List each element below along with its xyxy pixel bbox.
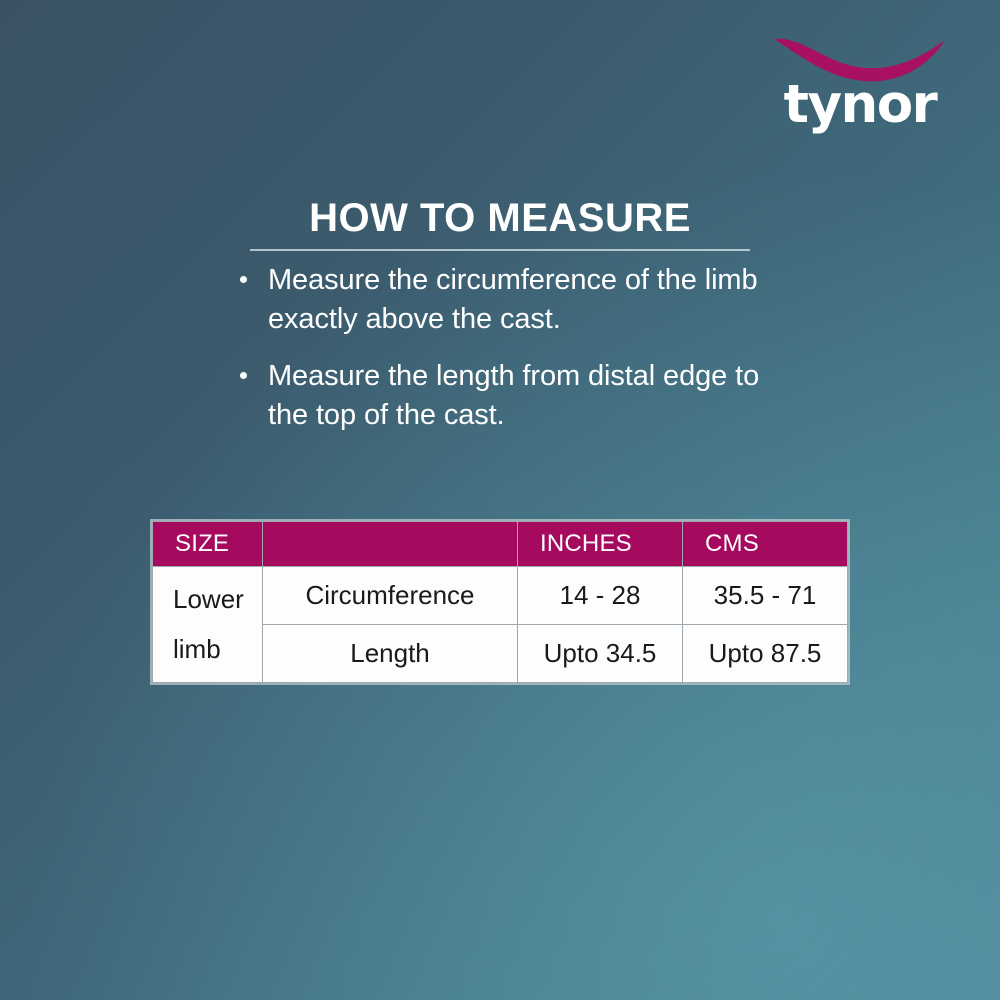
size-chart-table: SIZE INCHES CMS Lower limb Circumference… xyxy=(152,521,848,683)
size-label-line-1: Lower xyxy=(173,575,262,624)
cell-cms: Upto 87.5 xyxy=(683,625,848,683)
column-header-inches: INCHES xyxy=(518,522,683,567)
instruction-text: Measure the circumference of the limb ex… xyxy=(268,264,758,335)
instruction-list: Measure the circumference of the limb ex… xyxy=(236,261,796,453)
cell-size-label: Lower limb xyxy=(153,567,263,683)
table-header: SIZE INCHES CMS xyxy=(153,522,848,567)
bullet-dot-icon xyxy=(240,372,247,379)
size-label-line-2: limb xyxy=(173,625,262,674)
infographic-page: tynor HOW TO MEASURE Measure the circumf… xyxy=(0,0,1000,1000)
cell-cms: 35.5 - 71 xyxy=(683,567,848,625)
cell-measurement: Circumference xyxy=(263,567,518,625)
list-item: Measure the circumference of the limb ex… xyxy=(236,261,796,338)
table-body: Lower limb Circumference 14 - 28 35.5 - … xyxy=(153,567,848,683)
brand-wordmark: tynor xyxy=(770,78,950,131)
cell-inches: 14 - 28 xyxy=(518,567,683,625)
bullet-dot-icon xyxy=(240,276,247,283)
column-header-cms: CMS xyxy=(683,522,848,567)
page-title: HOW TO MEASURE xyxy=(250,196,750,240)
list-item: Measure the length from distal edge to t… xyxy=(236,357,796,434)
title-divider xyxy=(250,249,750,251)
brand-logo: tynor xyxy=(760,34,950,144)
cell-inches: Upto 34.5 xyxy=(518,625,683,683)
column-header-size: SIZE xyxy=(153,522,263,567)
table-header-row: SIZE INCHES CMS xyxy=(153,522,848,567)
cell-measurement: Length xyxy=(263,625,518,683)
column-header-measurement xyxy=(263,522,518,567)
table-row: Lower limb Circumference 14 - 28 35.5 - … xyxy=(153,567,848,625)
instruction-text: Measure the length from distal edge to t… xyxy=(268,360,759,431)
